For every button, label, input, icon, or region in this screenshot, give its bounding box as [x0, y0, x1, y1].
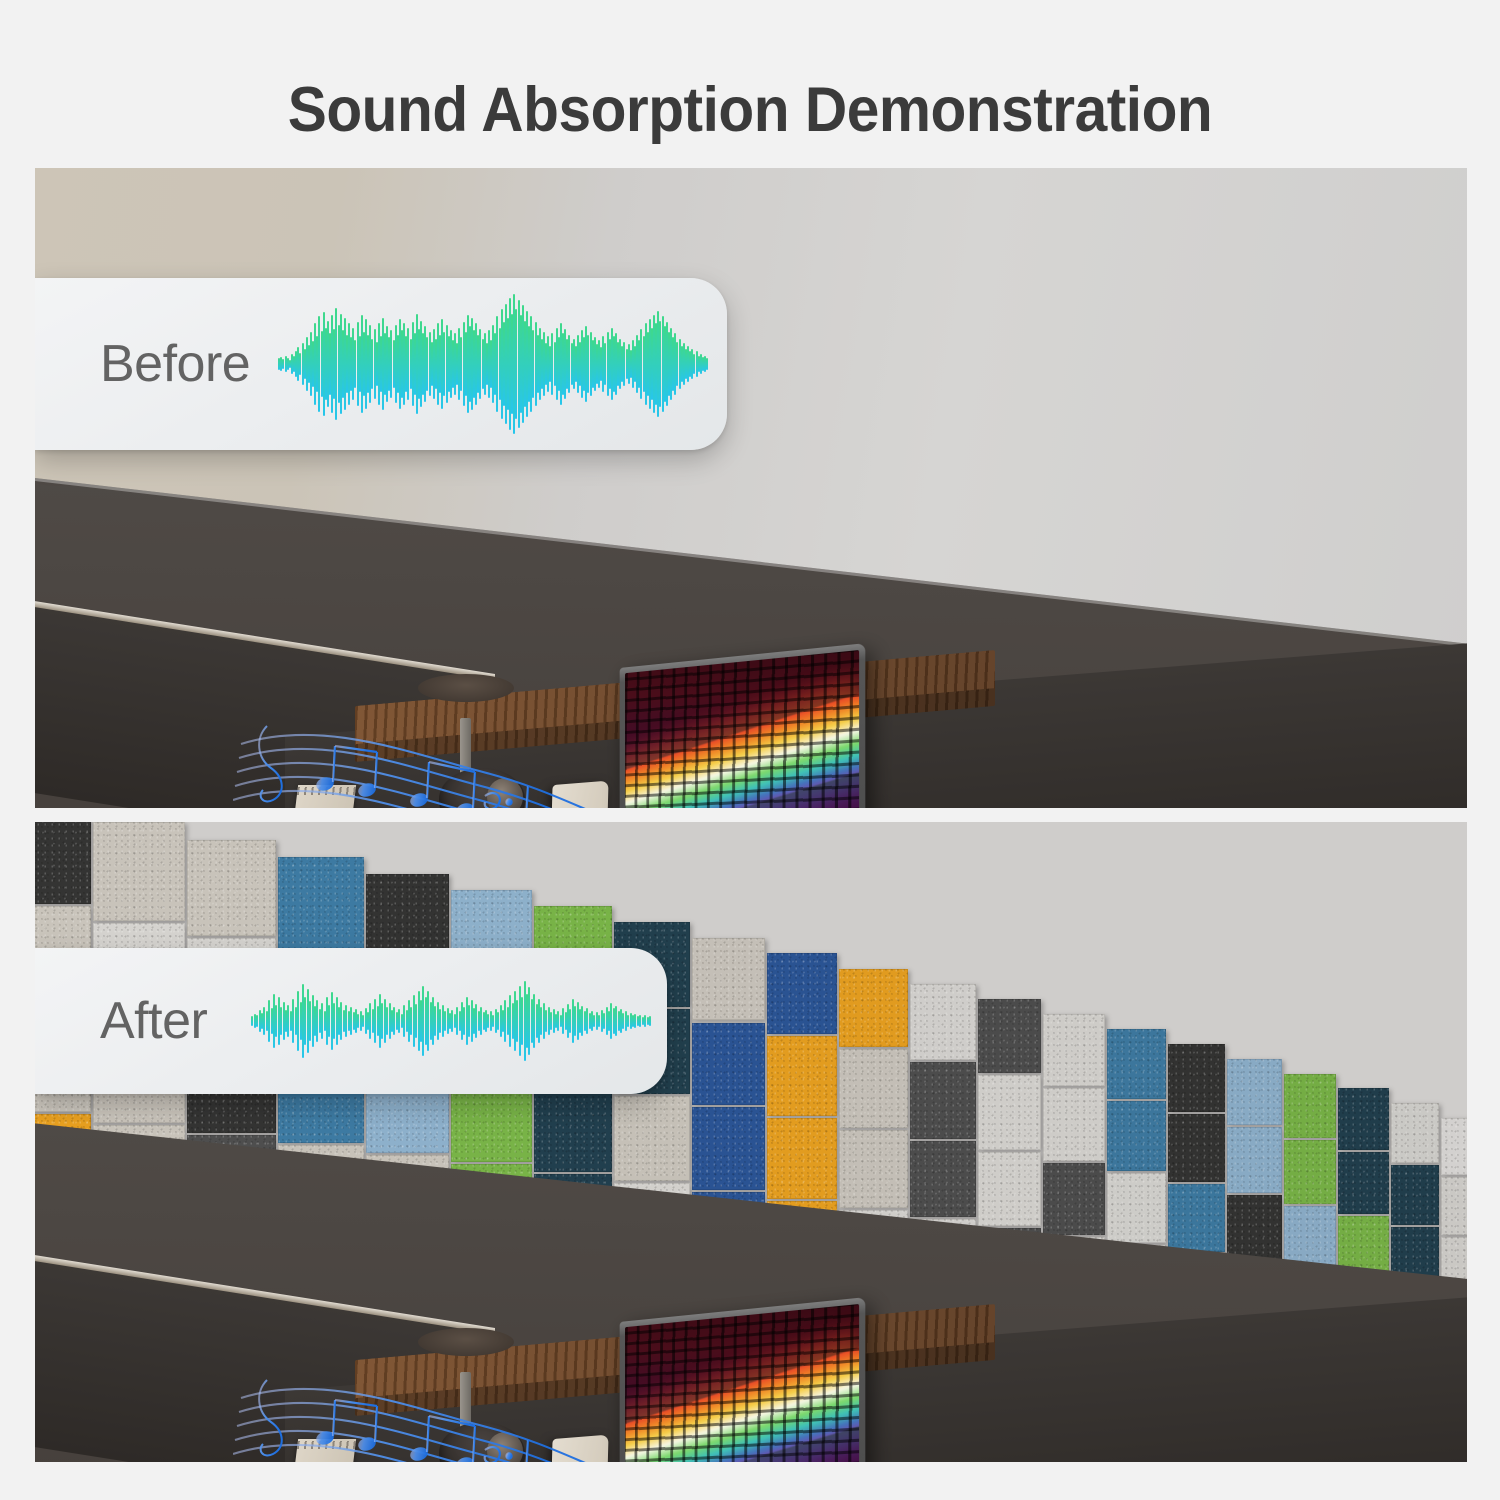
acoustic-panel	[1441, 1177, 1467, 1235]
waveform-bar	[509, 995, 511, 1046]
waveform-bar	[345, 1005, 347, 1037]
after-label-card: After	[35, 948, 667, 1094]
acoustic-panel	[692, 1107, 765, 1190]
after-scene-photo: BenQ	[35, 822, 1467, 1462]
before-label-card: Before	[35, 278, 727, 450]
waveform-bar	[562, 1008, 564, 1034]
acoustic-panel	[767, 1036, 838, 1117]
waveform-bar	[374, 999, 376, 1044]
page-title: Sound Absorption Demonstration	[53, 74, 1448, 146]
headphone-earcup	[487, 778, 523, 808]
acoustic-panel	[1107, 1173, 1166, 1243]
waveform-bar	[427, 991, 429, 1052]
waveform-bar	[403, 1005, 405, 1037]
waveform-bar	[492, 1015, 494, 1028]
headphone-stand-base-after	[418, 1328, 514, 1356]
acoustic-panel	[1391, 1103, 1439, 1163]
waveform-bar	[456, 1007, 458, 1036]
acoustic-panel	[839, 1130, 907, 1208]
acoustic-panel	[1391, 1165, 1439, 1225]
acoustic-panel	[1107, 1029, 1166, 1099]
waveform-bar	[268, 1000, 270, 1042]
acoustic-panel	[978, 1075, 1042, 1149]
waveform-bar	[615, 1006, 617, 1036]
acoustic-panel	[767, 953, 838, 1034]
waveform-bar	[550, 1012, 552, 1030]
acoustic-panel	[839, 969, 907, 1047]
acoustic-panel	[1227, 1127, 1282, 1193]
acoustic-panel	[1284, 1140, 1337, 1204]
waveform-bar	[297, 991, 299, 1052]
before-waveform	[278, 294, 708, 434]
monitor-after: BenQ	[620, 1297, 866, 1462]
waveform-bar	[415, 1004, 417, 1038]
waveform-bar	[309, 1001, 311, 1041]
waveform-bar	[350, 1007, 352, 1034]
acoustic-panel	[978, 999, 1042, 1073]
acoustic-panel	[839, 1049, 907, 1127]
monitor-screen	[625, 650, 860, 808]
tablet-device-after	[549, 1435, 608, 1462]
acoustic-panel	[93, 822, 185, 921]
waveform-bar	[333, 1003, 335, 1040]
acoustic-panel	[692, 1023, 765, 1106]
waveform-bar	[603, 1013, 605, 1029]
headphone-stand-base	[418, 674, 514, 702]
waveform-bar	[256, 1015, 258, 1026]
acoustic-panel	[1107, 1101, 1166, 1171]
demonstration-page: Sound Absorption Demonstration	[0, 0, 1500, 1500]
acoustic-panel	[1227, 1059, 1282, 1125]
waveform-bar	[497, 1012, 499, 1030]
after-waveform	[251, 981, 651, 1061]
waveform-bar	[586, 1008, 588, 1034]
acoustic-panel	[910, 1062, 976, 1138]
before-scene-photo: BenQ	[35, 168, 1467, 808]
waveform-bar	[280, 1007, 282, 1034]
waveform-bar	[362, 1015, 364, 1028]
acoustic-panel	[978, 1152, 1042, 1226]
acoustic-panel	[278, 857, 364, 951]
waveform-bar	[574, 1006, 576, 1036]
acoustic-panel	[1338, 1152, 1388, 1214]
monitor-screen-after	[625, 1304, 860, 1462]
acoustic-panel	[187, 840, 276, 936]
waveform-bar	[649, 1016, 651, 1026]
acoustic-panel	[534, 1084, 612, 1171]
after-label: After	[100, 995, 207, 1047]
waveform-bar	[480, 1007, 482, 1034]
acoustic-panel	[1168, 1184, 1225, 1252]
eq-grid-overlay	[625, 650, 860, 808]
acoustic-panel	[1338, 1088, 1388, 1150]
acoustic-panel	[1284, 1074, 1337, 1138]
waveform-bar	[639, 1015, 641, 1028]
waveform-bar	[545, 1010, 547, 1032]
acoustic-panel	[767, 1118, 838, 1199]
acoustic-panel	[1043, 1014, 1104, 1086]
acoustic-panel	[1441, 1118, 1467, 1176]
monitor: BenQ	[620, 643, 866, 808]
acoustic-panel	[1168, 1114, 1225, 1182]
acoustic-panel	[910, 1141, 976, 1217]
waveform-bar	[439, 1009, 441, 1033]
acoustic-panel	[910, 984, 976, 1060]
waveform-bar	[444, 1011, 446, 1030]
headphone-earcup-after	[487, 1432, 523, 1462]
waveform-bar	[468, 1005, 470, 1037]
acoustic-panel	[614, 1096, 690, 1181]
waveform-bar	[706, 358, 708, 369]
waveform-bar	[627, 1015, 629, 1028]
before-label: Before	[100, 338, 250, 390]
acoustic-panel	[35, 822, 91, 904]
acoustic-panel	[692, 938, 765, 1021]
tablet-device	[549, 781, 608, 808]
waveform-bar	[321, 1003, 323, 1038]
waveform-bar	[533, 994, 535, 1048]
acoustic-panel	[1043, 1088, 1104, 1160]
waveform-bar	[386, 1007, 388, 1034]
acoustic-panel	[1168, 1044, 1225, 1112]
acoustic-panel	[1043, 1163, 1104, 1235]
waveform-bar	[292, 999, 294, 1044]
acoustic-panel	[1227, 1195, 1282, 1261]
eq-grid-overlay-after	[625, 1304, 860, 1462]
waveform-bar	[521, 997, 523, 1045]
waveform-bar	[644, 1015, 646, 1026]
